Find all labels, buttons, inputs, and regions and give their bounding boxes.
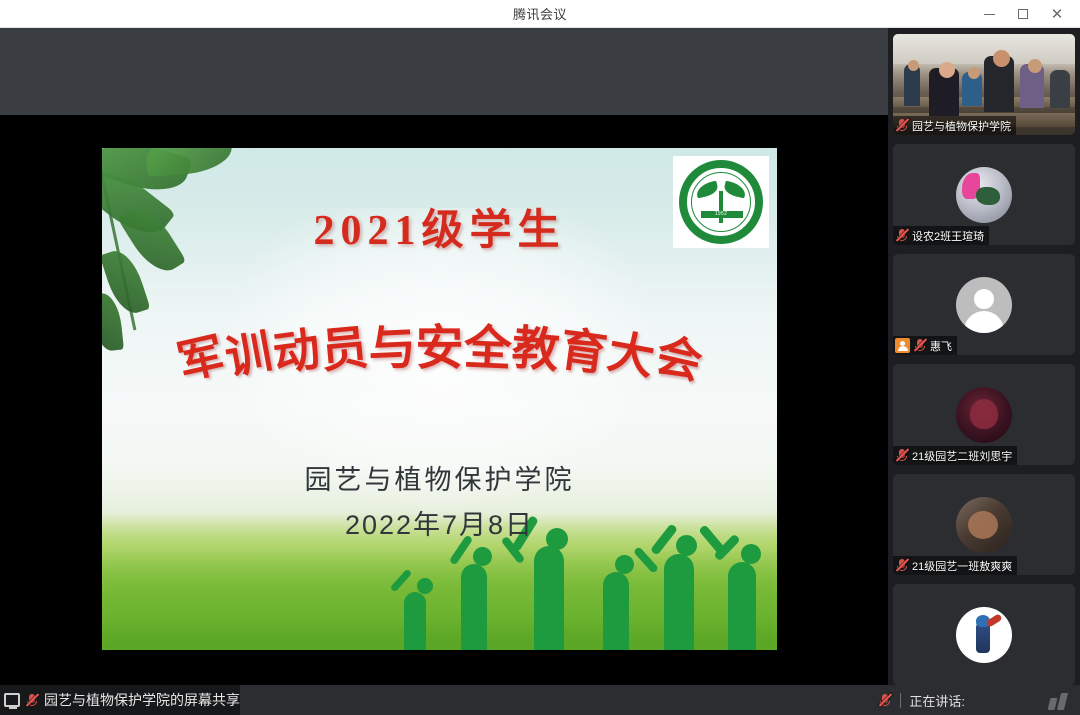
slide-title-char: 育 — [556, 310, 611, 384]
participant-tile[interactable] — [893, 584, 1075, 685]
slide-line-3: 园艺与植物保护学院 — [102, 458, 777, 497]
audio-wave-icon — [1049, 693, 1066, 710]
avatar — [956, 167, 1012, 223]
slide-line-2: 军训动员与安全教育大会 — [175, 318, 703, 388]
default-avatar-icon — [956, 277, 1012, 333]
slide-title-char: 与 — [366, 308, 417, 379]
slide-title-char: 安 — [415, 308, 463, 378]
presentation-slide: 1952 2021级学生 军训动员与安全教育大会 园艺与植物保护学院 2022年… — [102, 148, 777, 650]
slide-title-char: 动 — [268, 310, 323, 384]
slide-title-arch: 军训动员与安全教育大会 — [102, 318, 777, 418]
mic-muted-icon — [895, 118, 909, 133]
divider — [900, 693, 901, 708]
speaking-mic-muted-icon — [878, 693, 892, 708]
host-badge-icon — [895, 338, 910, 353]
avatar — [956, 607, 1012, 663]
participant-tile[interactable]: 园艺与植物保护学院 — [893, 34, 1075, 135]
meeting-window: 1952 2021级学生 军训动员与安全教育大会 园艺与植物保护学院 2022年… — [0, 28, 1080, 715]
participant-name-strip: 21级园艺一班敖爽爽 — [893, 556, 1017, 575]
avatar — [956, 497, 1012, 553]
window-title: 腾讯会议 — [513, 4, 567, 23]
participant-tile[interactable]: 21级园艺二班刘思宇 — [893, 364, 1075, 465]
screen-share-label: 园艺与植物保护学院的屏幕共享 — [44, 690, 240, 710]
bottom-bar: 园艺与植物保护学院的屏幕共享 正在讲话: — [0, 685, 1080, 715]
participant-rail[interactable]: 园艺与植物保护学院设农2班王瑄琦惠飞21级园艺二班刘思宇21级园艺一班敖爽爽 — [888, 28, 1080, 685]
participant-name: 惠飞 — [930, 338, 952, 354]
participant-tile[interactable]: 设农2班王瑄琦 — [893, 144, 1075, 245]
maximize-button[interactable] — [1006, 0, 1040, 28]
mic-muted-icon — [25, 693, 39, 708]
participant-name-strip: 园艺与植物保护学院 — [893, 116, 1016, 135]
participant-tile[interactable]: 惠飞 — [893, 254, 1075, 355]
slide-title-char: 全 — [462, 308, 513, 379]
avatar — [956, 387, 1012, 443]
participant-name-strip: 21级园艺二班刘思宇 — [893, 446, 1017, 465]
mic-muted-icon — [913, 338, 927, 353]
minimize-button[interactable] — [972, 0, 1006, 28]
slide-line-1: 2021级学生 — [102, 196, 777, 257]
window-titlebar: 腾讯会议 ✕ — [0, 0, 1080, 28]
participant-name: 设农2班王瑄琦 — [912, 228, 984, 244]
slide-title-char: 员 — [317, 309, 370, 382]
screen-share-indicator[interactable]: 园艺与植物保护学院的屏幕共享 — [0, 685, 240, 715]
speaking-indicator: 正在讲话: — [878, 685, 965, 715]
participant-name-strip: 设农2班王瑄琦 — [893, 226, 989, 245]
participant-name-strip: 惠飞 — [893, 336, 957, 355]
slide-line-4: 2022年7月8日 — [102, 503, 777, 542]
shared-screen-stage[interactable]: 1952 2021级学生 军训动员与安全教育大会 园艺与植物保护学院 2022年… — [0, 28, 888, 685]
speaking-label: 正在讲话: — [909, 691, 965, 710]
participant-tile[interactable]: 21级园艺一班敖爽爽 — [893, 474, 1075, 575]
mic-muted-icon — [895, 228, 909, 243]
participant-name: 园艺与植物保护学院 — [912, 118, 1011, 134]
screen-share-icon — [4, 693, 20, 707]
window-controls: ✕ — [972, 0, 1074, 28]
mic-muted-icon — [895, 448, 909, 463]
close-button[interactable]: ✕ — [1040, 0, 1074, 28]
participant-name: 21级园艺一班敖爽爽 — [912, 558, 1012, 574]
participant-name: 21级园艺二班刘思宇 — [912, 448, 1012, 464]
mic-muted-icon — [895, 558, 909, 573]
slide-title-char: 教 — [509, 309, 562, 382]
